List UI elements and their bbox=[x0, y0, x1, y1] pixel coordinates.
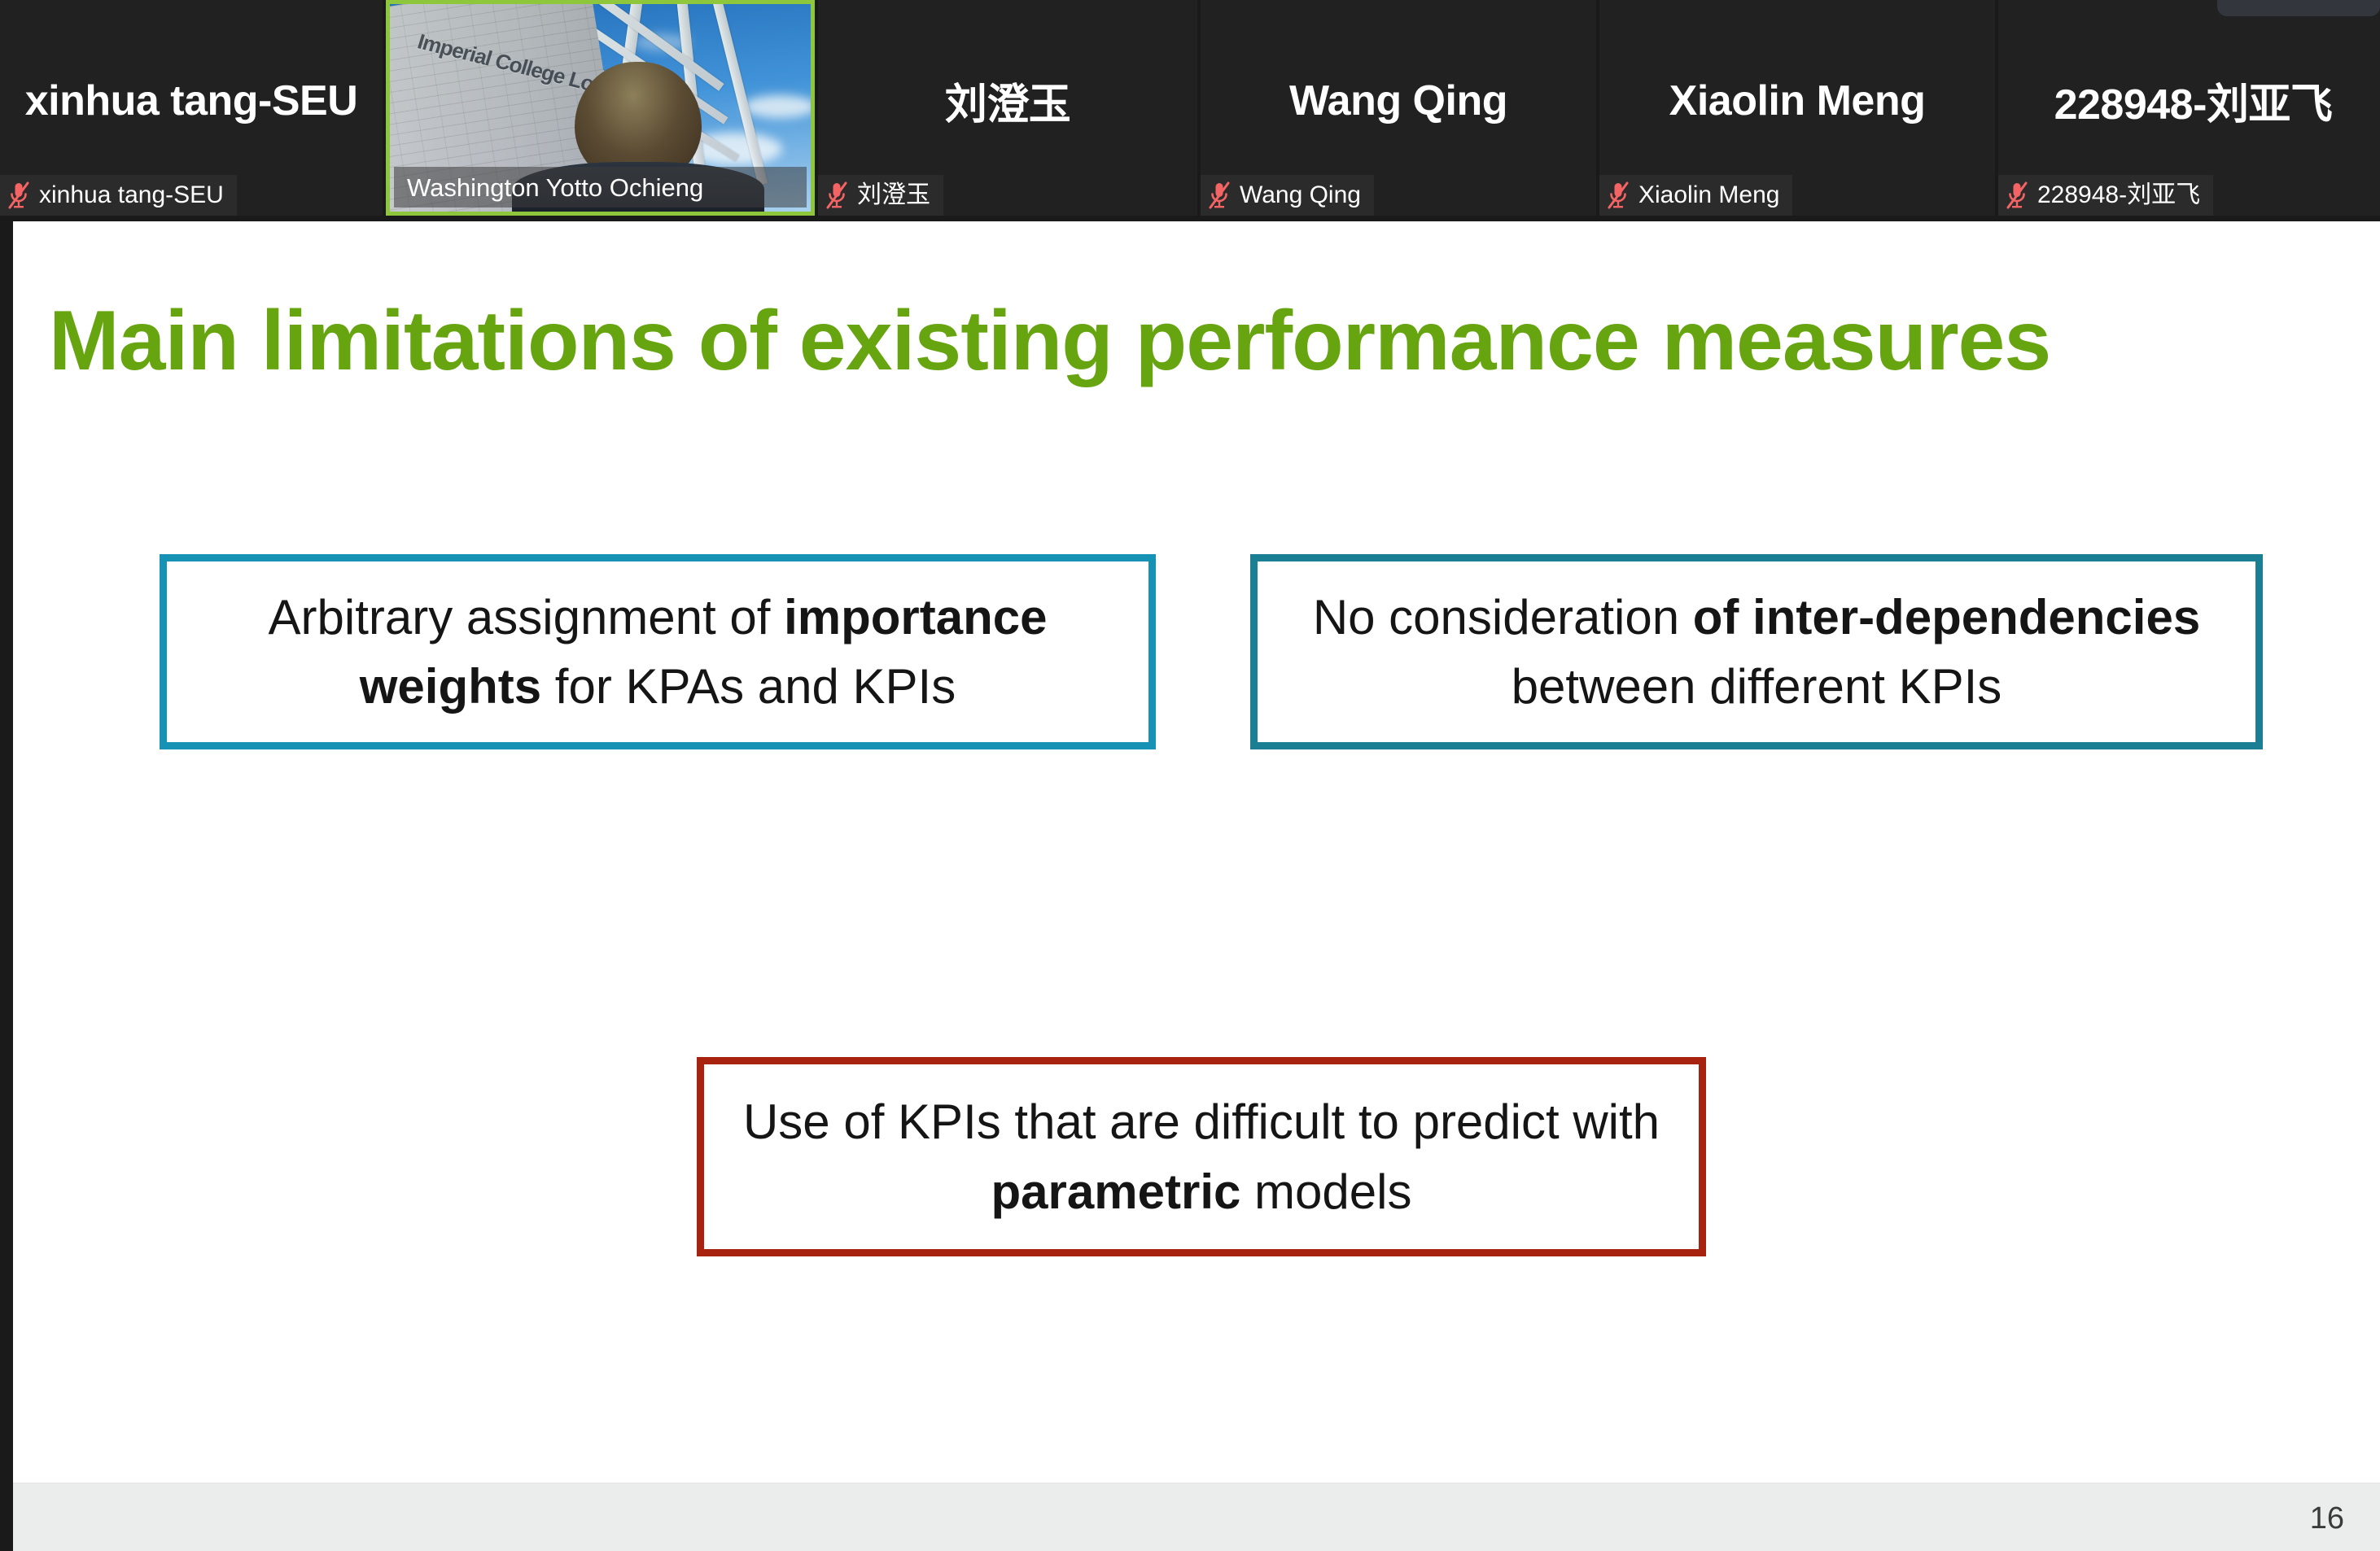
participant-name-badge: xinhua tang-SEU bbox=[0, 175, 237, 216]
participant-badge-label: Wang Qing bbox=[1240, 183, 1361, 208]
box2-part-3: between different KPIs bbox=[1512, 659, 2002, 714]
participant-badge-label: Xiaolin Meng bbox=[1638, 183, 1779, 208]
box3-part-3: models bbox=[1240, 1164, 1411, 1219]
limitation-box-2-text: No consideration of inter-dependencies b… bbox=[1258, 583, 2255, 721]
video-filmstrip: xinhua tang-SEU xinhua tang-SEU bbox=[0, 0, 2380, 221]
box2-part-2: of inter-dependencies bbox=[1693, 590, 2200, 644]
floating-toolbar-tab[interactable] bbox=[2217, 0, 2380, 16]
box3-part-1: Use of KPIs that are difficult to predic… bbox=[743, 1094, 1660, 1149]
participant-name-badge: Wang Qing bbox=[1201, 175, 1374, 216]
box3-part-2: parametric bbox=[991, 1164, 1241, 1219]
mic-muted-icon bbox=[1608, 181, 1629, 209]
limitation-box-3-text: Use of KPIs that are difficult to predic… bbox=[704, 1087, 1699, 1226]
limitation-box-2: No consideration of inter-dependencies b… bbox=[1250, 554, 2263, 749]
mic-muted-icon bbox=[1209, 181, 1230, 209]
participant-name-badge: Xiaolin Meng bbox=[1599, 175, 1792, 216]
box1-part-3: for KPAs and KPIs bbox=[541, 659, 956, 714]
participant-tile-3[interactable]: 刘澄玉 刘澄玉 bbox=[818, 0, 1197, 216]
limitation-box-1: Arbitrary assignment of importance weigh… bbox=[160, 554, 1156, 749]
participant-display-name: 228948-刘亚飞 bbox=[1998, 70, 2380, 146]
participant-tile-1[interactable]: xinhua tang-SEU xinhua tang-SEU bbox=[0, 0, 383, 216]
mic-muted-icon bbox=[826, 181, 847, 209]
participant-tile-6[interactable]: 228948-刘亚飞 228948-刘亚飞 bbox=[1998, 0, 2380, 216]
mic-muted-icon bbox=[8, 181, 29, 209]
participant-display-name: 刘澄玉 bbox=[818, 70, 1197, 146]
participant-display-name: Xiaolin Meng bbox=[1599, 76, 1995, 140]
box1-part-1: Arbitrary assignment of bbox=[269, 590, 785, 644]
screenshare-left-gutter bbox=[0, 221, 13, 1551]
slide-footer-bar: 16 bbox=[13, 1483, 2380, 1551]
participant-display-name: Wang Qing bbox=[1201, 76, 1596, 140]
limitation-box-1-text: Arbitrary assignment of importance weigh… bbox=[167, 583, 1148, 721]
participant-badge-label: 228948-刘亚飞 bbox=[2037, 183, 2200, 208]
mic-muted-icon bbox=[2006, 181, 2028, 209]
shared-slide: Main limitations of existing performance… bbox=[13, 221, 2380, 1551]
participant-badge-label: Washington Yotto Ochieng bbox=[407, 175, 703, 200]
participant-tile-4[interactable]: Wang Qing Wang Qing bbox=[1201, 0, 1596, 216]
participant-name-badge: Washington Yotto Ochieng bbox=[394, 167, 807, 208]
participant-tile-5[interactable]: Xiaolin Meng Xiaolin Meng bbox=[1599, 0, 1995, 216]
box2-part-1: No consideration bbox=[1313, 590, 1693, 644]
participant-name-badge: 228948-刘亚飞 bbox=[1998, 175, 2213, 216]
slide-title: Main limitations of existing performance… bbox=[49, 299, 2050, 383]
slide-page-number: 16 bbox=[2310, 1501, 2344, 1536]
participant-name-badge: 刘澄玉 bbox=[818, 175, 943, 216]
limitation-box-3: Use of KPIs that are difficult to predic… bbox=[697, 1057, 1706, 1256]
participant-display-name: xinhua tang-SEU bbox=[0, 76, 383, 140]
participant-tile-2-active-speaker[interactable]: Imperial College London Washington Yotto… bbox=[386, 0, 815, 216]
participant-badge-label: 刘澄玉 bbox=[857, 183, 930, 208]
participant-badge-label: xinhua tang-SEU bbox=[39, 183, 224, 208]
